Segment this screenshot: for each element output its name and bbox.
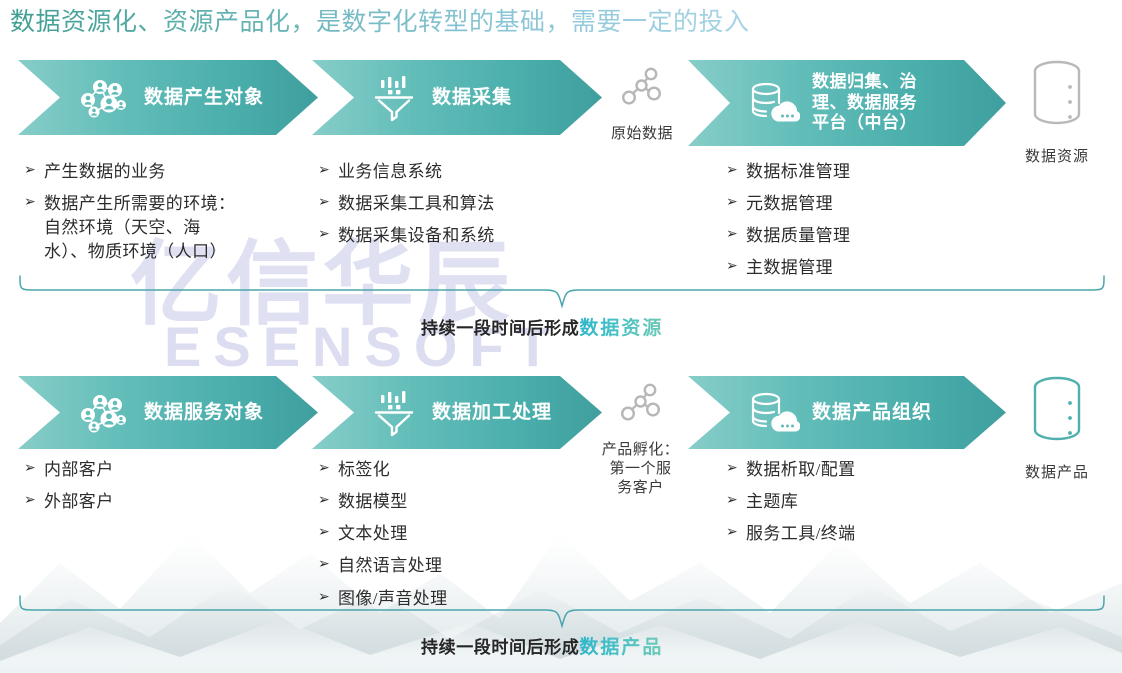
connector-product-incubation: 产品孵化： 第一个服 务客户: [588, 378, 693, 499]
bullet-marker-icon: ➢: [726, 458, 746, 480]
chevron-service-target[interactable]: 数据服务对象: [18, 376, 318, 449]
bullet-list-product-organization: ➢ 数据析取/配置 ➢ 主题库 ➢ 服务工具/终端: [726, 458, 1016, 554]
list-item: ➢ 业务信息系统: [318, 160, 598, 184]
list-item: ➢ 主题库: [726, 490, 1016, 514]
page-title: 数据资源化、资源产品化，是数字化转型的基础，需要一定的投入: [10, 2, 750, 38]
chevron-label: 数据产品组织: [812, 401, 932, 424]
chevron-label: 数据采集: [432, 86, 512, 109]
bullet-marker-icon: ➢: [726, 224, 746, 246]
node-link-icon: [614, 62, 670, 123]
list-item: ➢ 数据析取/配置: [726, 458, 1016, 482]
caption-highlight-text: 数据资源: [579, 313, 663, 340]
bullet-list-service-target: ➢ 内部客户 ➢ 外部客户: [24, 458, 304, 522]
bullet-marker-icon: ➢: [318, 160, 338, 182]
bullet-list-data-producer: ➢ 产生数据的业务 ➢ 数据产生所需要的环境： 自然环境（天空、海 水）、物质环…: [24, 160, 314, 273]
chevron-label: 数据加工处理: [432, 401, 552, 424]
list-item: ➢ 自然语言处理: [318, 554, 598, 578]
bullet-marker-icon: ➢: [24, 458, 44, 480]
funnel-icon: [368, 387, 420, 439]
bullet-list-data-platform: ➢ 数据标准管理 ➢ 元数据管理 ➢ 数据质量管理 ➢ 主数据管理: [726, 160, 1016, 289]
list-item: ➢ 标签化: [318, 458, 598, 482]
bullet-list-data-collection: ➢ 业务信息系统 ➢ 数据采集工具和算法 ➢ 数据采集设备和系统: [318, 160, 598, 256]
chevron-product-organization[interactable]: 数据产品组织: [688, 376, 1006, 449]
list-item: ➢ 数据标准管理: [726, 160, 1016, 184]
endpoint-label: 数据资源: [1025, 145, 1089, 166]
list-item: ➢ 外部客户: [24, 490, 304, 514]
bullet-marker-icon: ➢: [318, 522, 338, 544]
list-item: ➢ 文本处理: [318, 522, 598, 546]
chevron-data-platform[interactable]: 数据归集、治 理、数据服务 平台（中台）: [688, 60, 1006, 146]
connector-label: 原始数据: [611, 125, 673, 144]
bullet-marker-icon: ➢: [24, 490, 44, 512]
connector-label: 产品孵化： 第一个服 务客户: [602, 441, 680, 499]
bullet-marker-icon: ➢: [24, 192, 44, 214]
list-item: ➢ 数据采集工具和算法: [318, 192, 598, 216]
bullet-marker-icon: ➢: [318, 554, 338, 576]
chevron-data-producer[interactable]: 数据产生对象: [18, 60, 318, 135]
endpoint-label: 数据产品: [1025, 461, 1089, 482]
people-network-icon: [74, 389, 132, 437]
list-item: ➢ 服务工具/终端: [726, 522, 1016, 546]
list-item: ➢ 数据质量管理: [726, 224, 1016, 248]
endpoint-data-product: 数据产品: [1002, 374, 1112, 482]
people-network-icon: [74, 74, 132, 122]
bracket-resource: [14, 272, 1110, 310]
database-cloud-icon: [744, 387, 800, 439]
chevron-data-processing[interactable]: 数据加工处理: [312, 376, 602, 449]
funnel-icon: [368, 72, 420, 124]
chevron-label: 数据产生对象: [144, 86, 264, 109]
bullet-marker-icon: ➢: [318, 490, 338, 512]
list-item: ➢ 元数据管理: [726, 192, 1016, 216]
list-item: ➢ 产生数据的业务: [24, 160, 314, 184]
endpoint-data-resource: 数据资源: [1002, 58, 1112, 166]
bullet-marker-icon: ➢: [726, 192, 746, 214]
bullet-marker-icon: ➢: [318, 224, 338, 246]
bullet-marker-icon: ➢: [726, 160, 746, 182]
caption-resource: 持续一段时间后形成 数据资源: [421, 313, 663, 340]
list-item: ➢ 数据模型: [318, 490, 598, 514]
connector-raw-data: 原始数据: [592, 62, 692, 144]
bracket-product: [14, 592, 1110, 630]
caption-highlight-text: 数据产品: [579, 632, 663, 659]
list-item: ➢ 数据采集设备和系统: [318, 224, 598, 248]
bullet-marker-icon: ➢: [24, 160, 44, 182]
bullet-marker-icon: ➢: [318, 192, 338, 214]
chevron-data-collection[interactable]: 数据采集: [312, 60, 602, 135]
list-item: ➢ 数据产生所需要的环境： 自然环境（天空、海 水）、物质环境（人口）: [24, 192, 314, 264]
caption-product: 持续一段时间后形成 数据产品: [421, 632, 663, 659]
database-cloud-icon: [744, 77, 800, 129]
caption-lead-text: 持续一段时间后形成: [421, 633, 579, 658]
chevron-label: 数据归集、治 理、数据服务 平台（中台）: [812, 72, 917, 134]
database-stack-icon: [1022, 58, 1092, 141]
chevron-label: 数据服务对象: [144, 401, 264, 424]
database-stack-icon: [1022, 374, 1092, 457]
bullet-marker-icon: ➢: [726, 490, 746, 512]
bullet-marker-icon: ➢: [726, 522, 746, 544]
caption-lead-text: 持续一段时间后形成: [421, 314, 579, 339]
node-link-icon: [613, 378, 669, 439]
list-item: ➢ 内部客户: [24, 458, 304, 482]
bullet-marker-icon: ➢: [318, 458, 338, 480]
